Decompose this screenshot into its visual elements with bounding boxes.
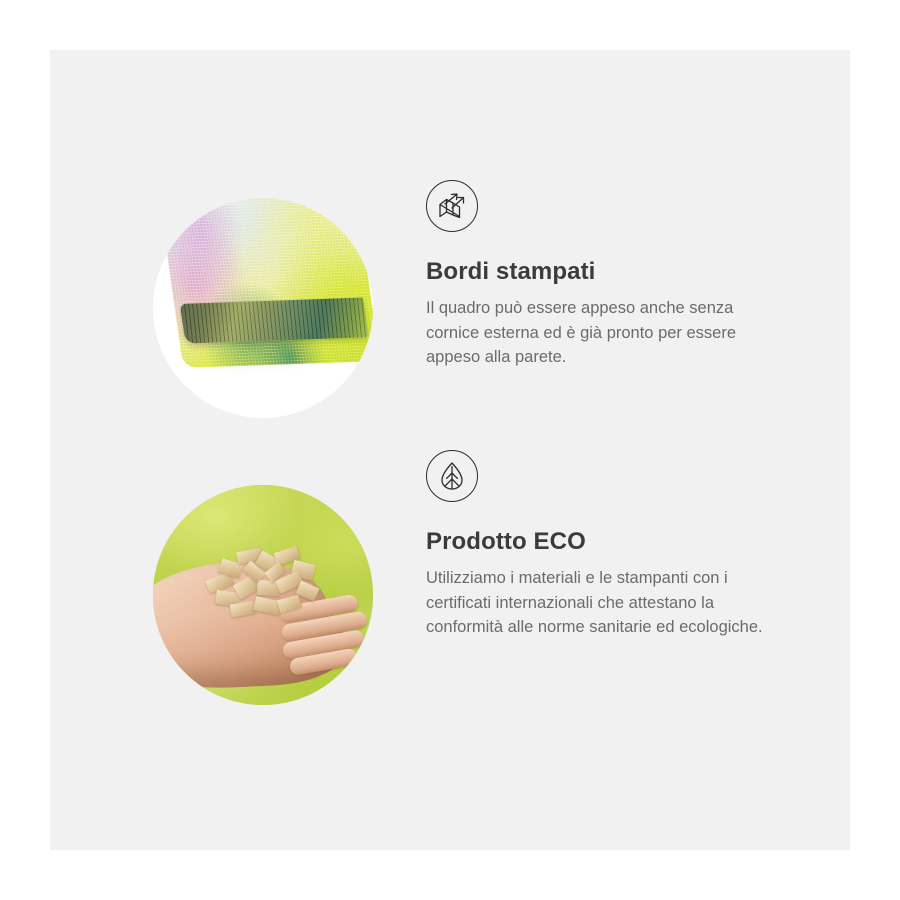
canvas-wrapped-edge xyxy=(180,298,368,344)
content-panel: Bordi stampati Il quadro può essere appe… xyxy=(50,50,850,850)
feature-description: Utilizziamo i materiali e le stampanti c… xyxy=(426,566,786,640)
canvas-artwork xyxy=(183,198,373,392)
hands-holding-wood-chips-photo xyxy=(153,485,373,705)
feature-description: Il quadro può essere appeso anche senza … xyxy=(426,296,786,370)
feature-text-eco-product: Prodotto ECO Utilizziamo i materiali e l… xyxy=(426,450,796,640)
feature-title: Bordi stampati xyxy=(426,258,796,287)
canvas-print-corner-photo xyxy=(153,198,373,418)
feature-text-printed-edges: Bordi stampati Il quadro può essere appe… xyxy=(426,180,796,370)
wrapped-canvas-edge-icon xyxy=(426,180,478,232)
wood-chips xyxy=(202,543,325,627)
leaf-icon xyxy=(426,450,478,502)
product-feature-banner: Bordi stampati Il quadro può essere appe… xyxy=(0,0,900,900)
feature-title: Prodotto ECO xyxy=(426,528,796,557)
